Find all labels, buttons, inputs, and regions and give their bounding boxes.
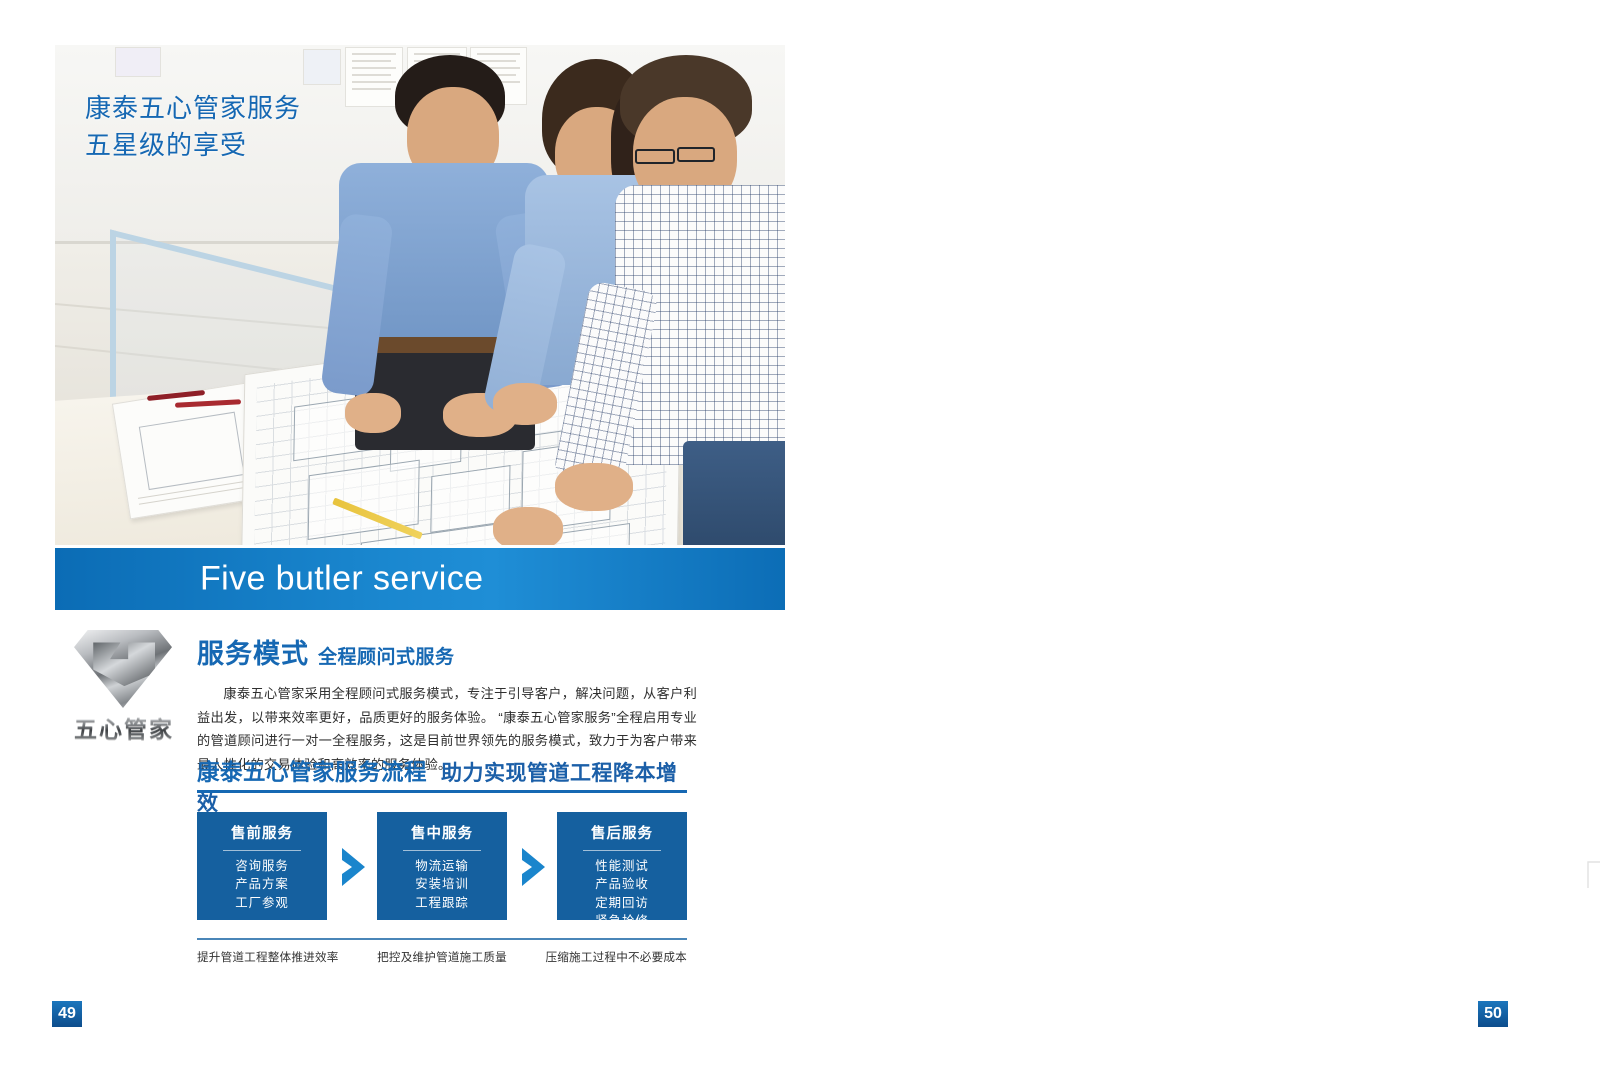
city-skyline-watermark <box>1580 700 1600 900</box>
flow-box-title: 售中服务 <box>377 812 507 843</box>
service-heading-main: 服务模式 <box>197 639 309 669</box>
hand <box>493 507 563 545</box>
flow-arrow-icon <box>339 846 373 888</box>
flow-heading-main: 康泰五心管家服务流程 <box>197 760 427 785</box>
chevron-right-icon <box>519 846 553 888</box>
hero-title-line1: 康泰五心管家服务 <box>85 90 301 127</box>
flow-box-items: 物流运输 安装培训 工程跟踪 <box>377 857 507 912</box>
small-floorplan <box>139 412 245 490</box>
five-heart-butler-logo: 五心管家 <box>58 628 190 753</box>
hero-title-line2: 五星级的享受 <box>85 127 301 164</box>
flow-box-divider <box>223 850 301 851</box>
flow-captions: 提升管道工程整体推进效率 把控及维护管道施工质量 压缩施工过程中不必要成本 <box>197 938 687 965</box>
jeans <box>683 441 785 545</box>
magazine-spread: 康泰五心管家服务 五星级的享受 Five butler service 五心管家… <box>0 0 1600 1078</box>
page-number-right: 50 <box>1478 1001 1508 1027</box>
flow-box-presale[interactable]: 售前服务 咨询服务 产品方案 工厂参观 <box>197 812 327 920</box>
flow-box-items: 咨询服务 产品方案 工厂参观 <box>197 857 327 912</box>
hero-photo-team-blueprint: 康泰五心管家服务 五星级的享受 <box>55 45 785 545</box>
logo-wordmark: 五心管家 <box>58 710 190 744</box>
flow-caption-3: 压缩施工过程中不必要成本 <box>524 949 687 965</box>
hand <box>555 463 633 511</box>
chevron-right-icon <box>339 846 373 888</box>
flow-heading-rule <box>197 790 687 793</box>
page-number-left: 49 <box>52 1001 82 1027</box>
service-heading-sub: 全程顾问式服务 <box>318 647 455 668</box>
right-page: The team support 团队支持——细节成就完美工程 为了保证客户利益… <box>800 0 1600 1078</box>
logo-gem-icon <box>74 630 172 708</box>
flow-box-title: 售后服务 <box>557 812 687 843</box>
wall-document <box>115 47 161 77</box>
hand <box>345 393 401 433</box>
flow-box-during-sale[interactable]: 售中服务 物流运输 安装培训 工程跟踪 <box>377 812 507 920</box>
flow-box-title: 售前服务 <box>197 812 327 843</box>
flow-caption-row: 提升管道工程整体推进效率 把控及维护管道施工质量 压缩施工过程中不必要成本 <box>197 949 687 965</box>
hand <box>493 383 557 425</box>
left-page: 康泰五心管家服务 五星级的享受 Five butler service 五心管家… <box>0 0 800 1078</box>
flow-box-divider <box>583 850 661 851</box>
flow-heading: 康泰五心管家服务流程助力实现管道工程降本增效 <box>197 755 697 817</box>
flow-box-items: 性能测试 产品验收 定期回访 紧急抢修 <box>557 857 687 930</box>
flow-arrow-icon <box>519 846 553 888</box>
hero-title: 康泰五心管家服务 五星级的享受 <box>85 90 301 164</box>
flow-caption-rule <box>197 938 687 940</box>
flow-box-divider <box>403 850 481 851</box>
eyeglasses <box>635 149 675 164</box>
service-flow-diagram: 售前服务 咨询服务 产品方案 工厂参观 售中服务 物流运输 安装培训 工程跟踪 <box>197 812 687 922</box>
section-banner: Five butler service <box>55 548 785 610</box>
service-heading: 服务模式全程顾问式服务 <box>197 632 697 671</box>
flow-caption-1: 提升管道工程整体推进效率 <box>197 949 360 965</box>
wall-document <box>303 49 341 85</box>
flow-caption-2: 把控及维护管道施工质量 <box>360 949 523 965</box>
flow-box-after-sale[interactable]: 售后服务 性能测试 产品验收 定期回访 紧急抢修 <box>557 812 687 920</box>
banner-title: Five butler service <box>200 560 483 599</box>
eyeglasses <box>677 147 715 162</box>
skyline-icon <box>1580 700 1600 900</box>
